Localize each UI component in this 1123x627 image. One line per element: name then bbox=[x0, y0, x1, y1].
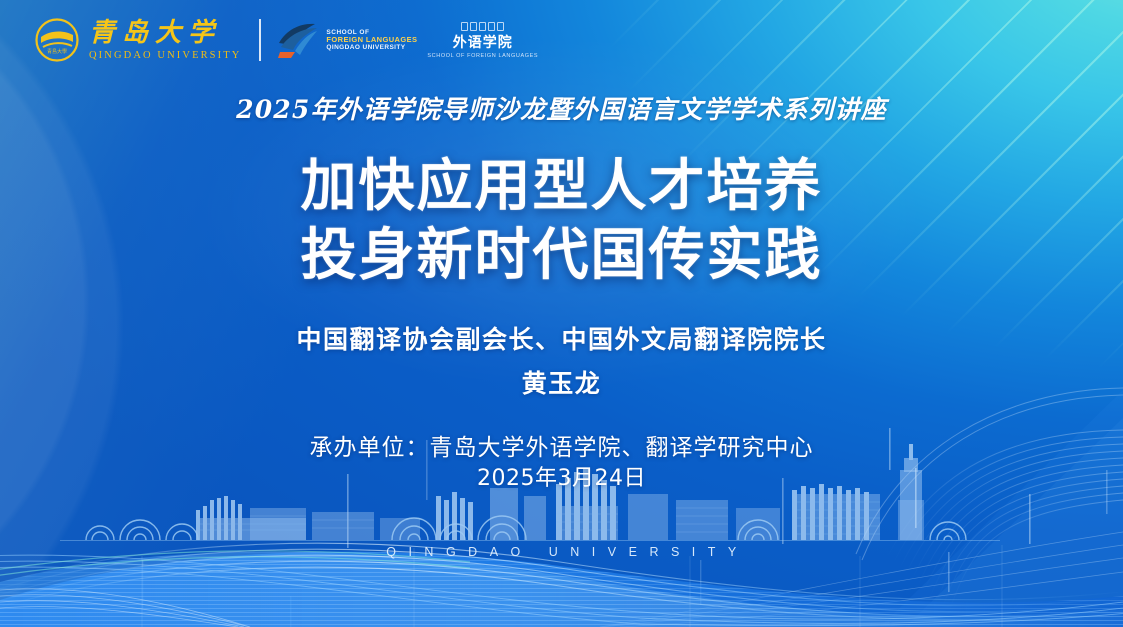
school-english-name: SCHOOL OF FOREIGN LANGUAGES QINGDAO UNIV… bbox=[326, 29, 417, 52]
host-block: 承办单位：青岛大学外语学院、翻译学研究中心 2025年3月24日 bbox=[0, 432, 1123, 494]
title-line-1: 加快应用型人才培养 bbox=[0, 152, 1123, 221]
poster-title: 加快应用型人才培养 投身新时代国传实践 bbox=[0, 152, 1123, 290]
school-of-foreign-languages-logo: SCHOOL OF FOREIGN LANGUAGES QINGDAO UNIV… bbox=[275, 21, 538, 59]
qingdao-university-seal-icon: 青島大學 bbox=[34, 17, 80, 63]
school-of-foreign-languages-emblem-icon bbox=[275, 21, 319, 59]
svg-text:青島大學: 青島大學 bbox=[47, 48, 67, 55]
school-chinese-name: 外语学院 SCHOOL OF FOREIGN LANGUAGES bbox=[427, 22, 538, 59]
speaker-block: 中国翻译协会副会长、中国外文局翻译院院长 黄玉龙 bbox=[0, 318, 1123, 406]
title-line-2: 投身新时代国传实践 bbox=[0, 221, 1123, 290]
event-poster: 青島大學 青岛大学 QINGDAO UNIVERSITY SCHOOL OF F… bbox=[0, 0, 1123, 627]
school-en-line3: QINGDAO UNIVERSITY bbox=[326, 44, 417, 51]
host-organizer: 承办单位：青岛大学外语学院、翻译学研究中心 bbox=[0, 432, 1123, 464]
school-logo-bars-icon bbox=[427, 22, 538, 31]
school-cn-sub: SCHOOL OF FOREIGN LANGUAGES bbox=[427, 53, 538, 59]
skyline-wordmark: QINGDAO UNIVERSITY bbox=[0, 545, 1123, 559]
school-en-line2: FOREIGN LANGUAGES bbox=[326, 36, 417, 44]
header-logo-bar: 青島大學 青岛大学 QINGDAO UNIVERSITY SCHOOL OF F… bbox=[34, 14, 538, 66]
qdu-english-name: QINGDAO UNIVERSITY bbox=[89, 50, 241, 61]
school-cn-main: 外语学院 bbox=[427, 32, 538, 52]
event-subtitle: 2025年外语学院导师沙龙暨外国语言文学学术系列讲座 bbox=[0, 90, 1123, 126]
qdu-chinese-name: 青岛大学 bbox=[89, 20, 241, 46]
speaker-title: 中国翻译协会副会长、中国外文局翻译院院长 bbox=[0, 318, 1123, 362]
logo-divider bbox=[259, 19, 261, 61]
event-date: 2025年3月24日 bbox=[0, 464, 1123, 494]
qingdao-university-wordmark: 青岛大学 QINGDAO UNIVERSITY bbox=[89, 20, 241, 61]
speaker-name: 黄玉龙 bbox=[0, 362, 1123, 406]
